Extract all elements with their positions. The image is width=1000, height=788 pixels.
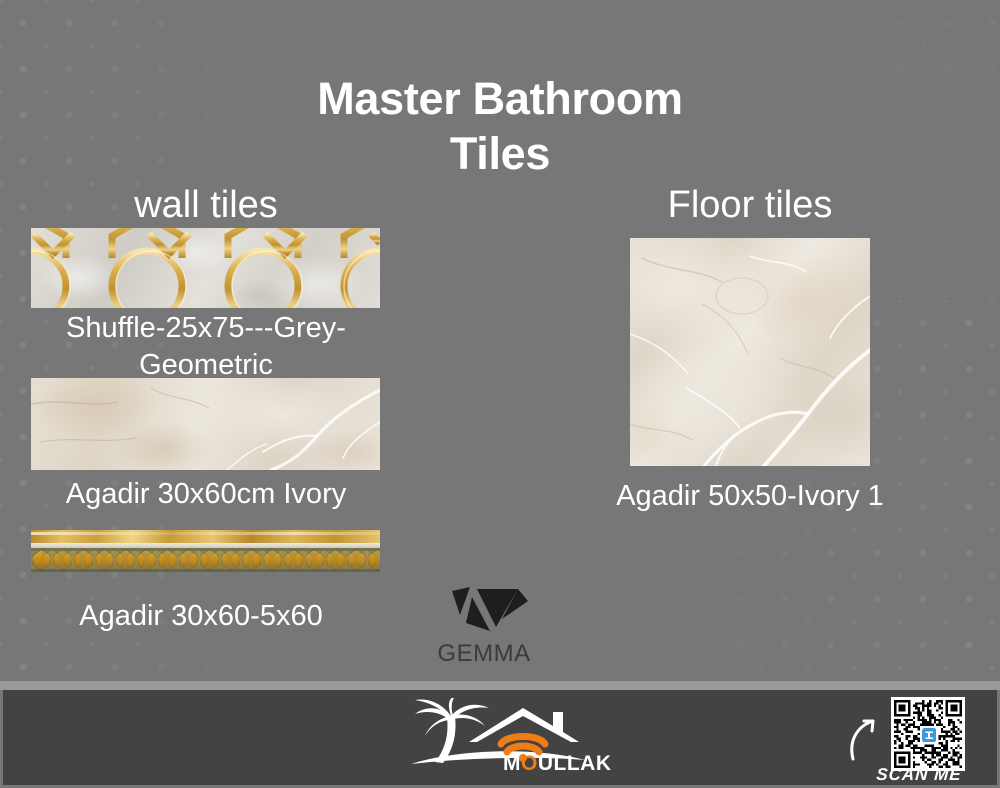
caption-agadir-50x50-ivory: Agadir 50x50-Ivory 1 xyxy=(610,478,890,515)
scan-me-label: SCAN ME xyxy=(868,765,969,785)
page-title: Master Bathroom Tiles xyxy=(0,72,1000,182)
svg-text:MOULLAK: MOULLAK xyxy=(503,752,612,775)
curved-arrow-icon xyxy=(847,713,881,761)
tile-swatch-agadir-30x60-5x60[interactable] xyxy=(31,530,380,572)
marble-veining-icon xyxy=(31,378,380,470)
footer-bar: MOULLAK xyxy=(3,690,997,785)
mosaic-pattern-icon xyxy=(31,548,380,572)
moullak-brand-logo[interactable]: MOULLAK xyxy=(403,698,613,778)
tile-swatch-agadir-30x60-ivory[interactable] xyxy=(31,378,380,470)
qr-scan-block[interactable]: SCAN ME xyxy=(845,695,975,783)
gemma-wordmark: GEMMA xyxy=(430,642,538,666)
qr-code-matrix-icon xyxy=(894,700,962,768)
palm-house-wifi-icon: MOULLAK xyxy=(403,698,613,778)
mosaic-field xyxy=(31,548,380,572)
gem-diamond-icon xyxy=(430,585,538,641)
marble-veining-icon xyxy=(630,238,870,466)
caption-agadir-30x60-ivory: Agadir 30x60cm Ivory xyxy=(6,476,406,513)
qr-code[interactable] xyxy=(891,697,965,771)
caption-agadir-30x60-5x60: Agadir 30x60-5x60 xyxy=(6,598,396,635)
gold-band xyxy=(31,530,380,543)
caption-shuffle-geometric: Shuffle-25x75---Grey-Geometric xyxy=(6,310,406,384)
page-title-line-2: Tiles xyxy=(0,127,1000,182)
tile-swatch-shuffle-geometric[interactable] xyxy=(31,228,380,308)
floor-tiles-heading: Floor tiles xyxy=(630,186,870,224)
wall-tiles-heading: wall tiles xyxy=(31,186,381,224)
gold-lattice-pattern-icon xyxy=(31,228,380,308)
footer-divider xyxy=(0,681,1000,690)
gemma-brand-logo: GEMMA xyxy=(430,585,538,667)
poster-canvas: Master Bathroom Tiles wall tiles Floor t… xyxy=(0,0,1000,788)
tile-swatch-agadir-50x50-ivory[interactable] xyxy=(630,238,870,466)
page-title-line-1: Master Bathroom xyxy=(317,73,683,124)
